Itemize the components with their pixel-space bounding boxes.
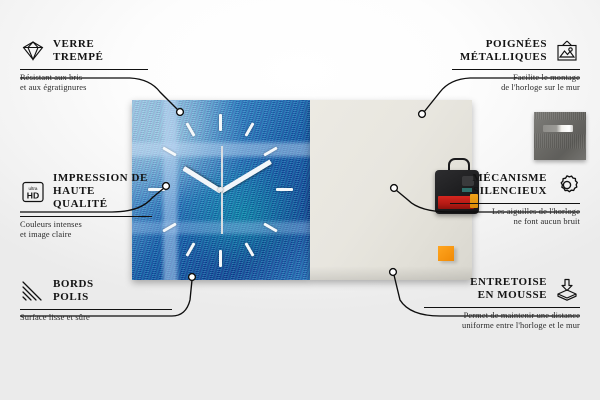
callout-header: ENTRETOISE EN MOUSSE (424, 276, 580, 302)
callout-foam-spacer: ENTRETOISE EN MOUSSE Permet de maintenir… (424, 276, 580, 331)
hanger-slot (543, 125, 573, 132)
callout-title-line2: POLIS (53, 291, 94, 304)
callout-header: POIGNÉES MÉTALLIQUES (452, 38, 580, 64)
foam-spacer (438, 246, 454, 261)
callout-rule (450, 203, 580, 204)
hour-marker (162, 222, 176, 232)
callout-rule (424, 307, 580, 308)
diagonal-lines-icon (20, 279, 46, 303)
hour-marker (244, 122, 254, 136)
hour-marker (244, 242, 254, 256)
callout-title-line1: POIGNÉES (460, 38, 547, 51)
hour-marker (219, 250, 222, 267)
callout-title-line2: SILENCIEUX (472, 185, 547, 198)
clock-hand-minute (220, 159, 272, 193)
hour-marker (185, 242, 195, 256)
callout-subtitle-line2: uniforme entre l'horloge et le mur (424, 321, 580, 331)
picture-frame-icon (554, 39, 580, 63)
callout-subtitle-line2: et aux égratignures (20, 83, 148, 93)
clock-face-panel (132, 100, 310, 280)
callout-title-line2: MÉTALLIQUES (460, 51, 547, 64)
callout-subtitle-line1: Permet de maintenir une distance (424, 311, 580, 321)
callout-subtitle-line2: ne font aucun bruit (450, 217, 580, 227)
callout-title-line1: BORDS (53, 278, 94, 291)
callout-subtitle-line1: Facilite le montage (452, 73, 580, 83)
callout-rule (452, 69, 580, 70)
callout-metal-handles: POIGNÉES MÉTALLIQUES Facilite le montage… (452, 38, 580, 93)
callout-subtitle-line2: et image claire (20, 230, 152, 240)
callout-header: BORDS POLIS (20, 278, 172, 304)
arrow-into-stack-icon (554, 277, 580, 301)
callout-title-line2: EN MOUSSE (470, 289, 547, 302)
clock-back-panel (310, 100, 472, 280)
metal-hanger-plate (534, 112, 586, 160)
callout-subtitle-line1: Résistant aux bris (20, 73, 148, 83)
callout-tempered-glass: VERRE TREMPÉ Résistant aux bris et aux é… (20, 38, 148, 93)
hour-marker (263, 146, 277, 156)
product-photo (132, 100, 472, 280)
gear-icon (554, 173, 580, 197)
diamond-icon (20, 39, 46, 63)
callout-print-quality: ultra HD IMPRESSION DE HAUTE QUALITÉ Cou… (20, 172, 152, 240)
callout-rule (20, 216, 152, 217)
clock-hand-hour (182, 166, 222, 194)
callout-polished-edges: BORDS POLIS Surface lisse et sûre (20, 278, 172, 323)
callout-silent-mechanism: MÉCANISME SILENCIEUX Les aiguilles de l'… (450, 172, 580, 227)
callout-subtitle-line1: Surface lisse et sûre (20, 313, 172, 323)
hour-marker (162, 146, 176, 156)
callout-header: VERRE TREMPÉ (20, 38, 148, 64)
callout-title-line2: HAUTE QUALITÉ (53, 185, 152, 211)
callout-subtitle-line2: de l'horloge sur le mur (452, 83, 580, 93)
callout-subtitle-line1: Les aiguilles de l'horloge (450, 207, 580, 217)
callout-title-line1: MÉCANISME (472, 172, 547, 185)
callout-rule (20, 69, 148, 70)
callout-subtitle-line1: Couleurs intenses (20, 220, 152, 230)
hour-marker (263, 222, 277, 232)
callout-header: ultra HD IMPRESSION DE HAUTE QUALITÉ (20, 172, 152, 211)
callout-title-line1: VERRE (53, 38, 103, 51)
callout-title-line1: ENTRETOISE (470, 276, 547, 289)
infographic-canvas: VERRE TREMPÉ Résistant aux bris et aux é… (0, 0, 600, 400)
ultra-hd-icon: ultra HD (20, 180, 46, 204)
hour-marker (185, 122, 195, 136)
callout-header: MÉCANISME SILENCIEUX (450, 172, 580, 198)
hour-marker (219, 114, 222, 131)
callout-rule (20, 309, 172, 310)
svg-text:HD: HD (27, 190, 39, 200)
callout-title-line1: IMPRESSION DE (53, 172, 152, 185)
clock-center-pin (218, 187, 223, 192)
callout-title-line2: TREMPÉ (53, 51, 103, 64)
hour-marker (276, 188, 293, 191)
